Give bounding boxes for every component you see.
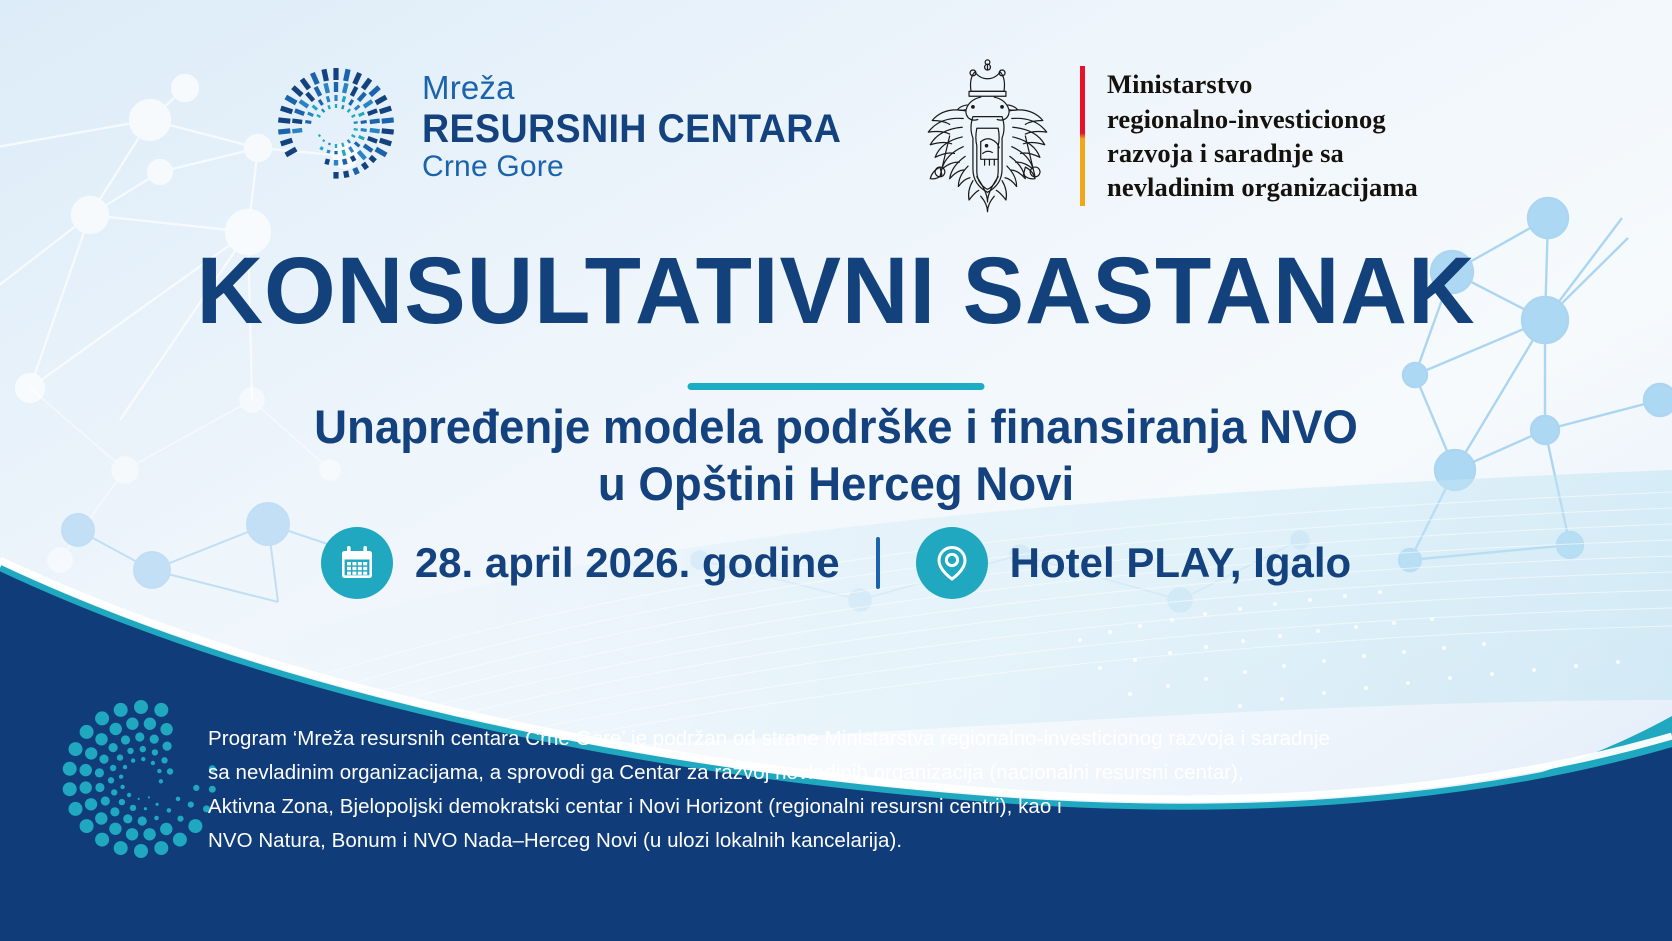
page-title: KONSULTATIVNI SASTANAK — [25, 244, 1647, 339]
subtitle-line1: Unapređenje modela podrške i finansiranj… — [25, 398, 1647, 455]
event-location: Hotel PLAY, Igalo — [916, 527, 1352, 599]
network-logo-line1: Mreža — [422, 71, 868, 104]
ministry-line3: razvoja i saradnje sa — [1107, 136, 1418, 170]
calendar-icon — [321, 527, 393, 599]
ministry-line2: regionalno-investicionog — [1107, 102, 1418, 136]
ministry-line1: Ministarstvo — [1107, 67, 1418, 101]
event-meta-row: 28. april 2026. godine Hotel PLAY, Igalo — [0, 527, 1672, 599]
montenegro-coat-of-arms-icon — [905, 52, 1070, 220]
footer-line-4: NVO Natura, Bonum i NVO Nada–Herceg Novi… — [208, 824, 1268, 858]
ministry-flag-divider — [1080, 66, 1085, 206]
page-subtitle: Unapređenje modela podrške i finansiranj… — [25, 398, 1647, 513]
ministry-logo: Ministarstvo regionalno-investicionog ra… — [905, 52, 1418, 220]
network-logo-line2: RESURSNIH CENTARA — [422, 109, 841, 149]
subtitle-line2: u Opštini Herceg Novi — [25, 455, 1647, 512]
network-logo-wordmark: Mreža RESURSNIH CENTARA Crne Gore — [422, 71, 868, 182]
ministry-line4: nevladinim organizacijama — [1107, 170, 1418, 204]
spiral-dots-logo-icon — [272, 62, 400, 190]
event-location-label: Hotel PLAY, Igalo — [1010, 539, 1352, 587]
meta-separator — [876, 537, 880, 589]
network-logo-line3: Crne Gore — [422, 152, 868, 182]
footer-line-3: Aktivna Zona, Bjelopoljski demokratski c… — [208, 790, 1268, 824]
footer-line-2: sa nevladinim organizacijama, a sprovodi… — [208, 756, 1268, 790]
event-date: 28. april 2026. godine — [321, 527, 840, 599]
map-pin-icon — [916, 527, 988, 599]
event-banner: Mreža RESURSNIH CENTARA Crne Gore — [0, 0, 1672, 941]
footer-disclaimer: Program ‘Mreža resursnih centara Crne Go… — [208, 722, 1268, 858]
footer-line-1: Program ‘Mreža resursnih centara Crne Go… — [208, 722, 1268, 756]
ministry-name: Ministarstvo regionalno-investicionog ra… — [1107, 67, 1418, 205]
event-date-label: 28. april 2026. godine — [415, 539, 840, 587]
logo-row: Mreža RESURSNIH CENTARA Crne Gore — [0, 52, 1672, 222]
title-divider — [688, 383, 985, 390]
spiral-dots-decoration-icon — [52, 690, 230, 868]
network-logo: Mreža RESURSNIH CENTARA Crne Gore — [272, 62, 868, 190]
